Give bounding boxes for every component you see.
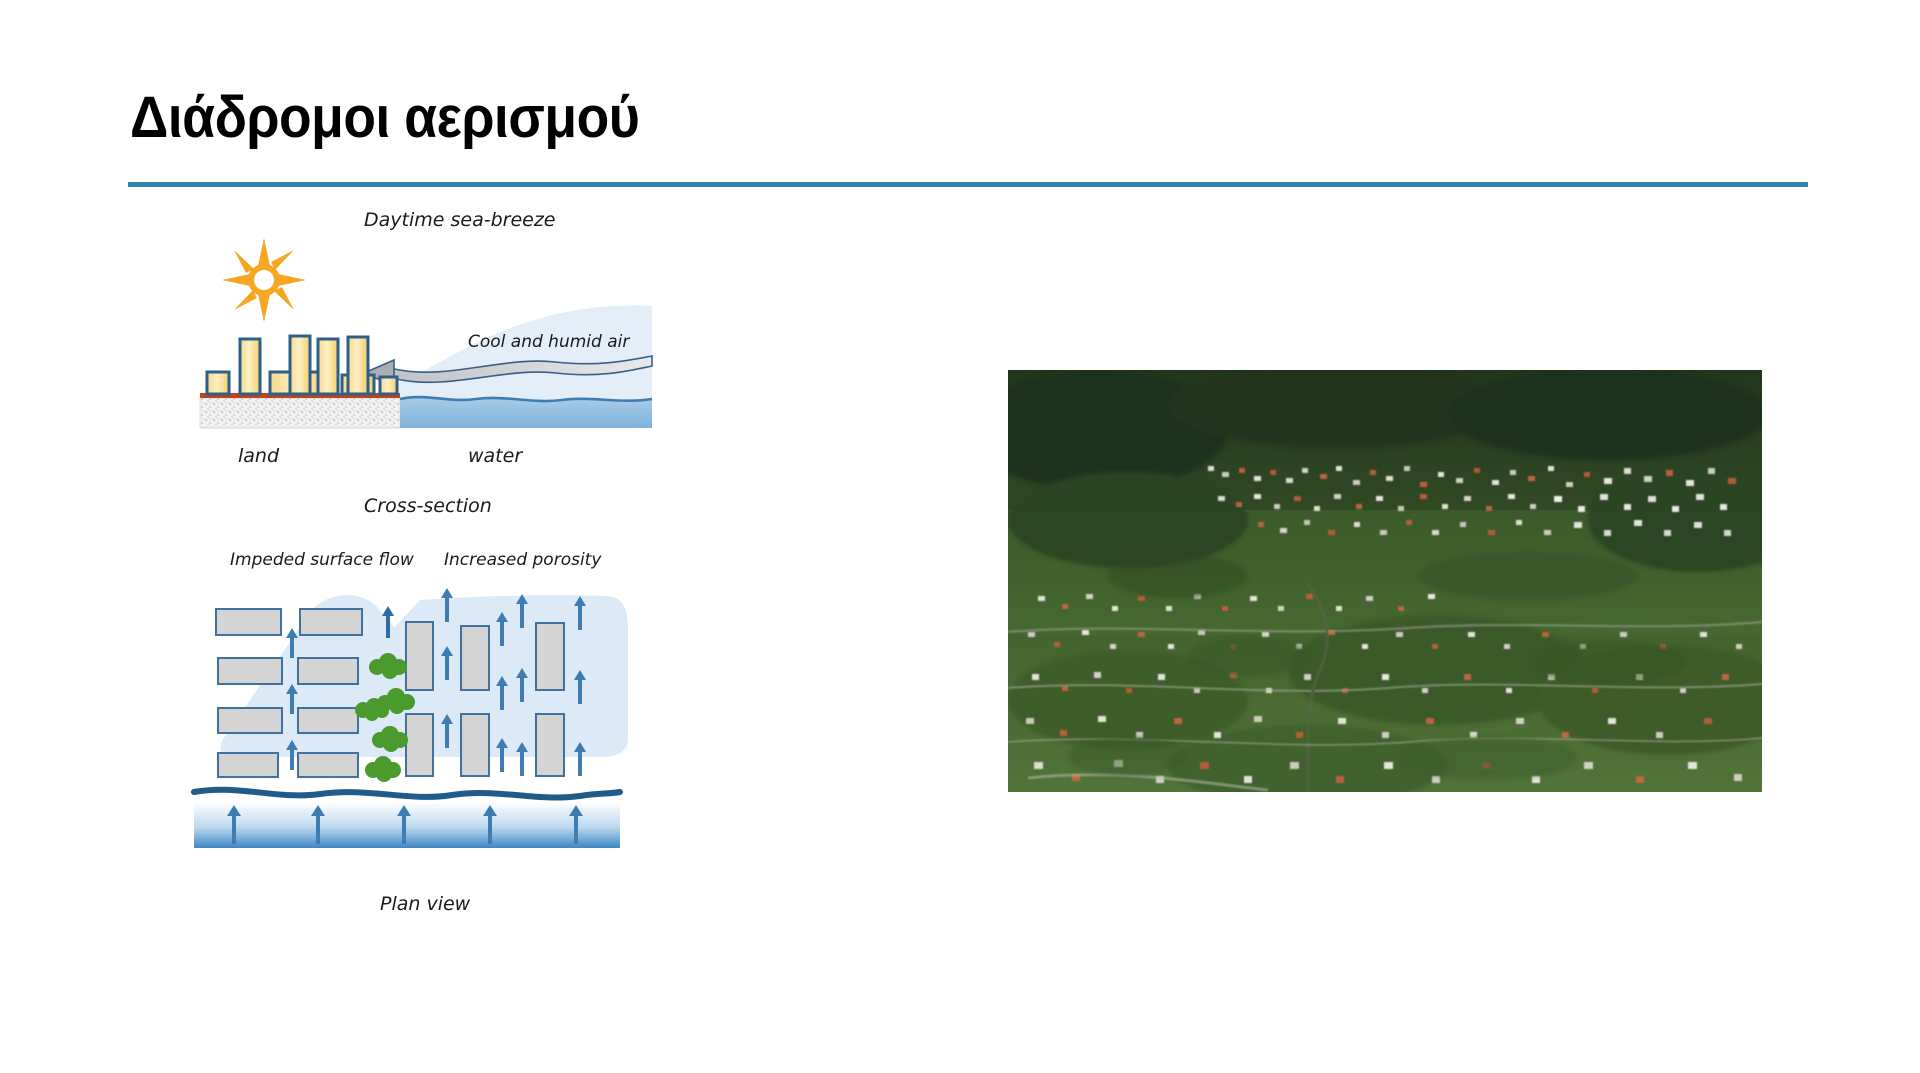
shoreline (194, 790, 620, 798)
page-title: Διάδρομοι αερισμού (130, 88, 639, 149)
label-daytime-sea-breeze: Daytime sea-breeze (364, 210, 555, 231)
sun-icon (222, 238, 306, 322)
label-land: land (238, 445, 280, 467)
water-block (400, 397, 652, 428)
land-block (200, 398, 400, 428)
label-cool-humid-air: Cool and humid air (468, 332, 630, 352)
aerial-photo (1008, 370, 1762, 792)
ventilation-diagram: Daytime sea-breeze Cool and humid air (180, 210, 800, 1040)
cross-section-buildings (207, 336, 397, 394)
title-divider (128, 182, 1808, 187)
label-water: water (468, 445, 523, 467)
label-impeded-surface-flow: Impeded surface flow (230, 550, 414, 570)
caption-plan-view: Plan view (380, 893, 471, 915)
caption-cross-section: Cross-section (364, 495, 492, 517)
plan-water-band (194, 802, 620, 848)
label-increased-porosity: Increased porosity (444, 550, 602, 570)
